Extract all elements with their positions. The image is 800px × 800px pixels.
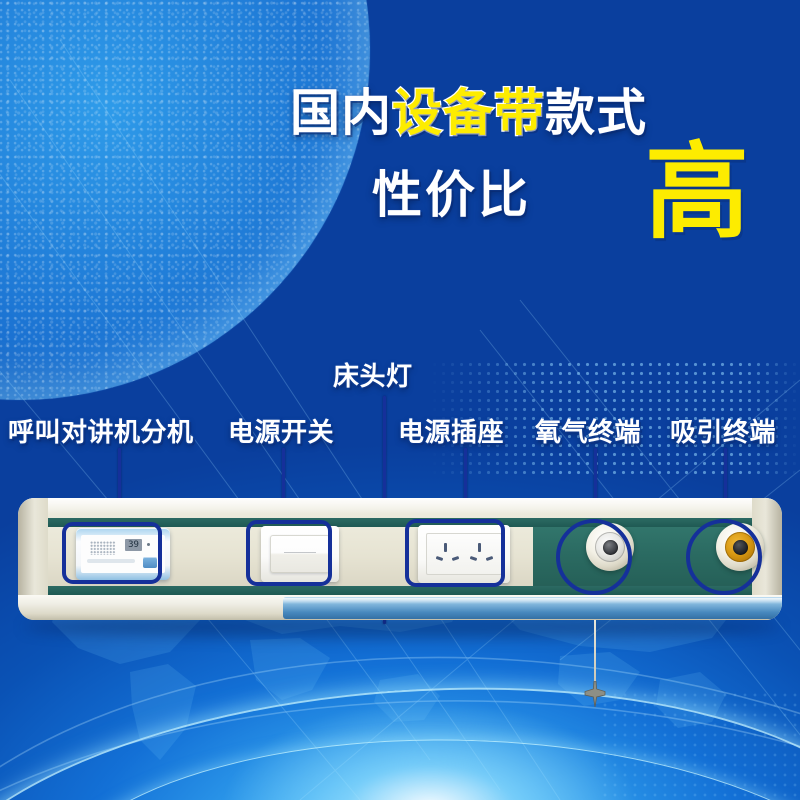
panel-stripe-bottom xyxy=(18,586,782,595)
headline-line1-highlight: 设备带 xyxy=(392,84,545,142)
highlight-box-power-socket xyxy=(405,519,505,587)
pull-cord[interactable] xyxy=(594,620,596,686)
cross-pendant-icon xyxy=(583,681,607,707)
headline-block: 国内设备带款式 性价比 高 xyxy=(0,0,800,250)
halftone-dot-field-lower xyxy=(600,690,800,800)
promo-banner: 国内设备带款式 性价比 高 呼叫对讲机分机 电源开关 床头灯 电源插座 氧气终端… xyxy=(0,0,800,800)
callout-label-power-switch: 电源开关 xyxy=(228,412,334,449)
panel-top-highlight xyxy=(18,498,782,514)
highlight-ring-oxygen-terminal xyxy=(556,519,632,595)
highlight-box-nurse-call-intercom xyxy=(62,522,162,584)
headline-emphasis-character: 高 xyxy=(645,140,749,244)
callout-label-bed-lamp: 床头灯 xyxy=(333,356,413,393)
highlight-ring-suction-terminal xyxy=(686,519,762,595)
highlight-box-power-switch xyxy=(246,520,332,586)
panel-blue-insert-highlight xyxy=(283,598,782,604)
headline-line1-part2: 款式 xyxy=(545,84,647,142)
headline-line-1: 国内设备带款式 xyxy=(290,88,647,138)
callout-label-oxygen-terminal: 氧气终端 xyxy=(535,412,641,449)
callout-label-nurse-call-intercom: 呼叫对讲机分机 xyxy=(8,412,194,449)
callout-label-power-socket: 电源插座 xyxy=(398,412,504,449)
callout-label-suction-terminal: 吸引终端 xyxy=(670,412,776,449)
headline-line-2: 性价比 xyxy=(372,170,531,220)
headline-line1-part1: 国内 xyxy=(290,84,392,142)
